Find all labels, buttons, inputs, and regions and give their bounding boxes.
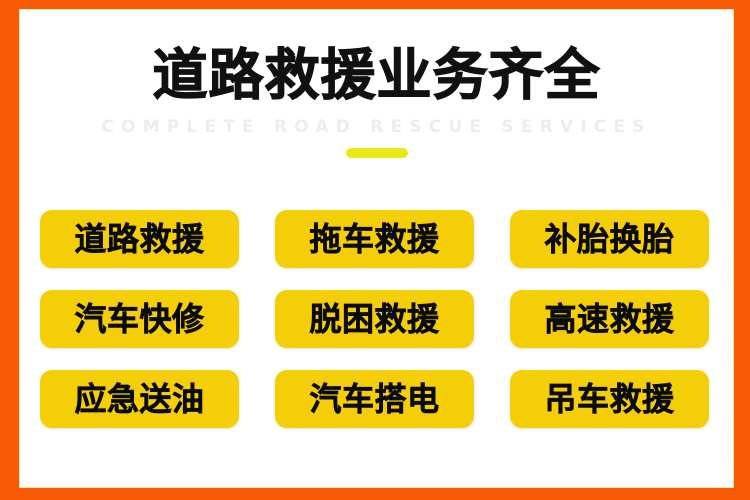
page-title: 道路救援业务齐全 [20, 44, 733, 106]
service-button-highway-rescue[interactable]: 高速救援 [510, 290, 709, 348]
service-button-label: 拖车救援 [309, 222, 439, 256]
service-button-quick-car-repair[interactable]: 汽车快修 [40, 290, 239, 348]
service-button-label: 道路救援 [74, 222, 204, 256]
service-button-extrication-rescue[interactable]: 脱困救援 [275, 290, 474, 348]
service-button-grid: 道路救援 拖车救援 补胎换胎 汽车快修 脱困救援 高速救援 应急送油 汽车搭电 [40, 210, 713, 428]
service-button-tow-rescue[interactable]: 拖车救援 [275, 210, 474, 268]
page-subtitle: COMPLETE ROAD RESCUE SERVICES [20, 117, 733, 137]
title-divider-bar [346, 148, 408, 158]
service-button-crane-rescue[interactable]: 吊车救援 [510, 370, 709, 428]
service-button-emergency-fuel-delivery[interactable]: 应急送油 [40, 370, 239, 428]
service-button-road-rescue[interactable]: 道路救援 [40, 210, 239, 268]
service-button-label: 汽车快修 [74, 302, 204, 336]
service-button-tire-repair-replace[interactable]: 补胎换胎 [510, 210, 709, 268]
poster-canvas: 道路救援业务齐全 COMPLETE ROAD RESCUE SERVICES 道… [20, 10, 733, 487]
service-button-jump-start[interactable]: 汽车搭电 [275, 370, 474, 428]
service-button-label: 补胎换胎 [544, 222, 674, 256]
service-button-label: 汽车搭电 [309, 382, 439, 416]
service-button-label: 吊车救援 [544, 382, 674, 416]
service-button-label: 应急送油 [74, 382, 204, 416]
service-button-label: 高速救援 [544, 302, 674, 336]
service-button-label: 脱困救援 [309, 302, 439, 336]
poster-root: 道路救援业务齐全 COMPLETE ROAD RESCUE SERVICES 道… [0, 0, 750, 500]
